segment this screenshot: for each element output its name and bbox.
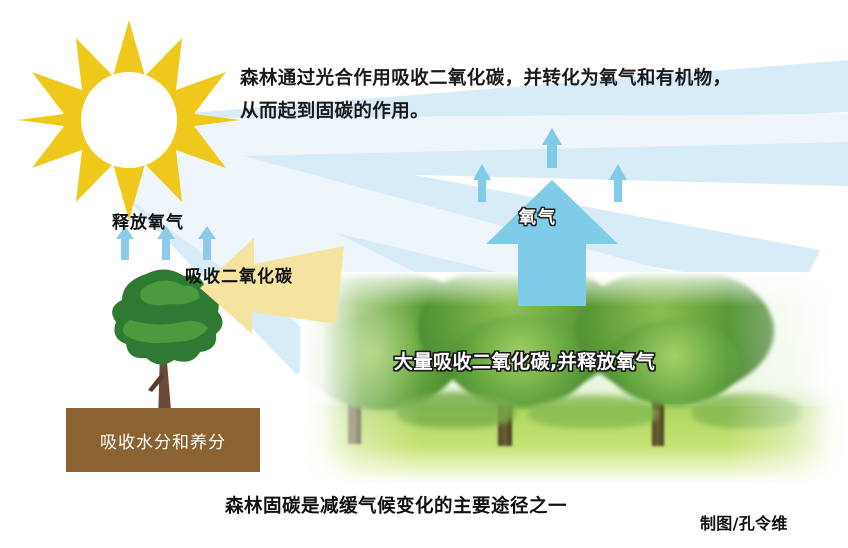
release-oxygen-label: 释放氧气 xyxy=(112,208,184,233)
sun-icon xyxy=(18,14,240,226)
headline-line-2: 从而起到固碳的作用。 xyxy=(240,95,840,128)
figure-credit: 制图/孔令维 xyxy=(700,510,788,534)
infographic-canvas: 吸收水分和养分 森林通过光合作用吸收二氧化碳，并转化为氧气和有机物， 从而起到固… xyxy=(0,0,848,548)
soil-box-label: 吸收水分和养分 xyxy=(100,428,226,453)
headline-text: 森林通过光合作用吸收二氧化碳，并转化为氧气和有机物， 从而起到固碳的作用。 xyxy=(240,62,840,128)
headline-line-1: 森林通过光合作用吸收二氧化碳，并转化为氧气和有机物， xyxy=(240,62,840,95)
oxygen-arrow-label: 氧气 xyxy=(519,203,557,228)
forest-overlay-label: 大量吸收二氧化碳,并释放氧气 xyxy=(394,347,655,374)
figure-caption: 森林固碳是减缓气候变化的主要途径之一 xyxy=(225,492,567,518)
soil-uptake-box: 吸收水分和养分 xyxy=(66,408,260,472)
absorb-co2-label: 吸收二氧化碳 xyxy=(185,262,293,287)
